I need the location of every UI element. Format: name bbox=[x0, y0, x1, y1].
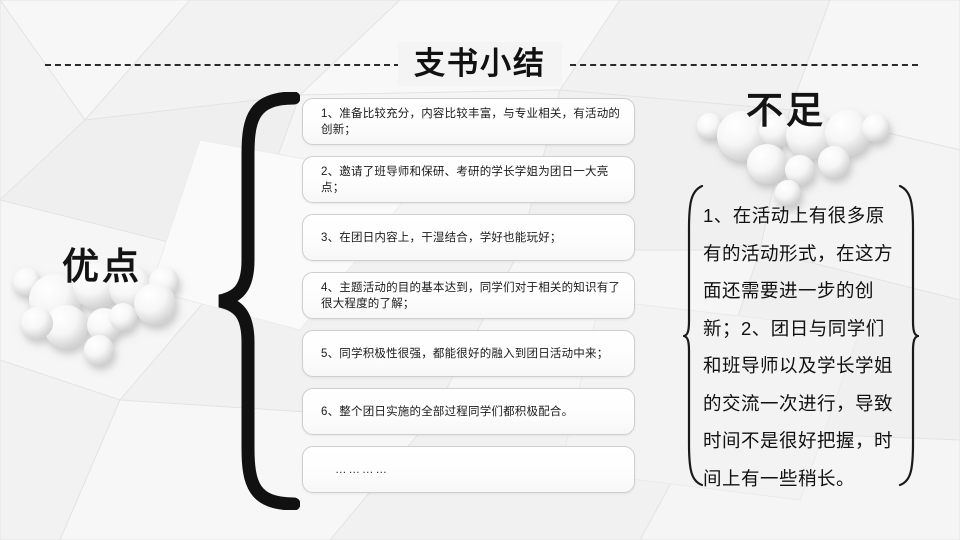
list-item[interactable]: 5、同学积极性很强，都能很好的融入到团日活动中来； bbox=[302, 330, 635, 377]
section-heading-cons: 不足 bbox=[746, 80, 826, 134]
list-item-text: 1、准备比较充分，内容比较丰富，与专业相关，有活动的创新； bbox=[321, 106, 622, 138]
list-item-text: 4、主题活动的目的基本达到，同学们对于相关的知识有了很大程度的了解； bbox=[321, 280, 622, 312]
list-item[interactable]: 1、准备比较充分，内容比较丰富，与专业相关，有活动的创新； bbox=[302, 98, 635, 145]
curly-brace-decoration bbox=[214, 92, 300, 510]
list-item[interactable]: 3、在团日内容上，干湿结合，学好也能玩好； bbox=[302, 214, 635, 261]
cons-panel-text: 1、在活动上有很多原有的活动形式，在这方面还需要进一步的创新；2、团日与同学们和… bbox=[703, 197, 903, 497]
list-item-text: 2、邀请了班导师和保研、考研的学长学姐为团日一大亮点； bbox=[321, 164, 622, 196]
cons-panel: 1、在活动上有很多原有的活动形式，在这方面还需要进一步的创新；2、团日与同学们和… bbox=[683, 183, 919, 488]
page-title-text: 支书小结 bbox=[398, 42, 562, 86]
list-item[interactable]: 2、邀请了班导师和保研、考研的学长学姐为团日一大亮点； bbox=[302, 156, 635, 203]
bracket-left-decoration bbox=[683, 183, 705, 488]
list-item[interactable]: 6、整个团日实施的全部过程同学们都积极配合。 bbox=[302, 388, 635, 435]
section-heading-pros: 优点 bbox=[62, 236, 142, 290]
slide-canvas: 支书小结 bbox=[0, 0, 960, 540]
list-item[interactable]: ………… bbox=[302, 446, 635, 493]
pros-card-list: 1、准备比较充分，内容比较丰富，与专业相关，有活动的创新； 2、邀请了班导师和保… bbox=[302, 98, 635, 504]
list-item-text: 6、整个团日实施的全部过程同学们都积极配合。 bbox=[321, 404, 573, 420]
list-item-text: 5、同学积极性很强，都能很好的融入到团日活动中来； bbox=[321, 346, 608, 362]
list-item[interactable]: 4、主题活动的目的基本达到，同学们对于相关的知识有了很大程度的了解； bbox=[302, 272, 635, 319]
list-item-text: ………… bbox=[321, 462, 389, 478]
list-item-text: 3、在团日内容上，干湿结合，学好也能玩好； bbox=[321, 230, 562, 246]
